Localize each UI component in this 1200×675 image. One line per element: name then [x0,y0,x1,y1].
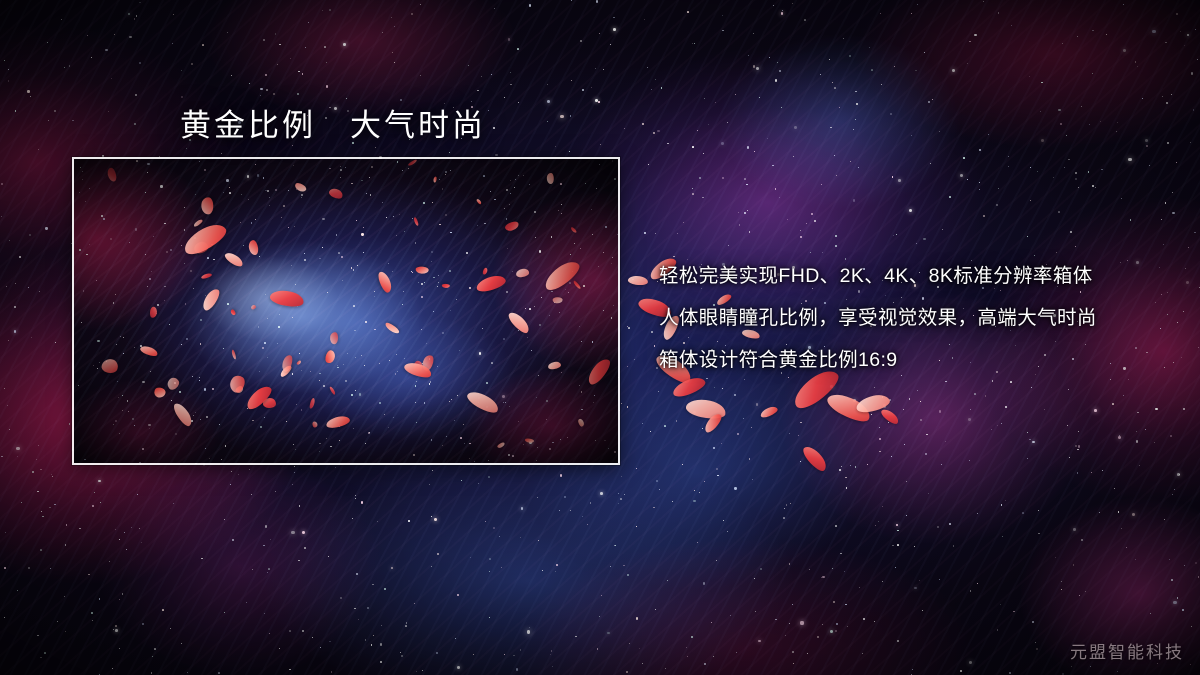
watermark-label: 元盟智能科技 [1070,638,1184,663]
body-line-1: 轻松完美实现FHD、2K、4K、8K标准分辨率箱体 [659,255,1159,297]
body-text-block: 轻松完美实现FHD、2K、4K、8K标准分辨率箱体 人体眼睛瞳孔比例，享受视觉效… [659,255,1159,381]
framed-picture [72,157,620,465]
picture-content [74,159,618,463]
body-line-3: 箱体设计符合黄金比例16:9 [659,339,1159,381]
page-title: 黄金比例 大气时尚 [180,100,486,145]
body-line-2: 人体眼睛瞳孔比例，享受视觉效果，高端大气时尚 [659,297,1159,339]
slide-canvas: 黄金比例 大气时尚 轻松完美实现FHD、2K、4K、8K标准分辨率箱体 人体眼睛… [0,0,1200,675]
picture-vignette [74,159,618,463]
